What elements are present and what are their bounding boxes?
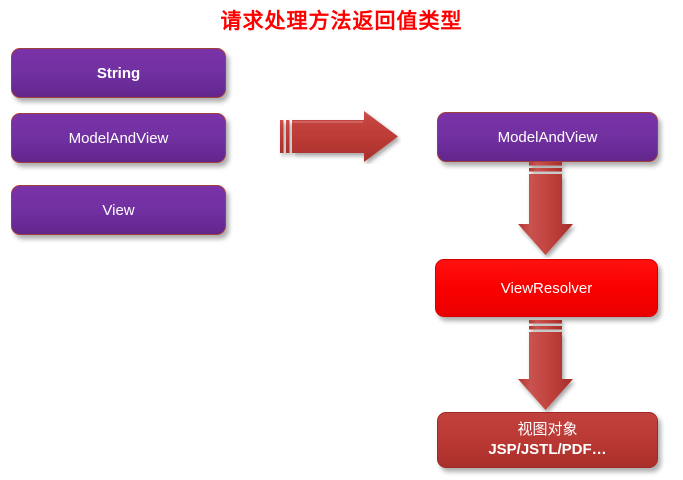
box-view[interactable]: View: [11, 185, 226, 235]
box-modelandview-left-label: ModelAndView: [69, 130, 169, 147]
box-view-object-line2: JSP/JSTL/PDF…: [488, 440, 606, 460]
box-view-label: View: [102, 202, 134, 219]
right-arrow-icon: [279, 110, 401, 164]
box-modelandview-right-label: ModelAndView: [498, 129, 598, 146]
down-arrow-icon-1: [516, 162, 578, 258]
box-modelandview-right[interactable]: ModelAndView: [437, 112, 658, 162]
page-title: 请求处理方法返回值类型: [0, 9, 683, 35]
box-viewresolver[interactable]: ViewResolver: [435, 259, 658, 317]
box-viewresolver-label: ViewResolver: [501, 280, 592, 297]
box-view-object[interactable]: 视图对象 JSP/JSTL/PDF…: [437, 412, 658, 468]
box-modelandview-left[interactable]: ModelAndView: [11, 113, 226, 163]
box-string-label: String: [97, 65, 140, 82]
box-string[interactable]: String: [11, 48, 226, 98]
box-view-object-line1: 视图对象: [517, 420, 577, 440]
down-arrow-icon-2: [516, 320, 578, 412]
diagram-canvas: 请求处理方法返回值类型 String ModelAndView View: [0, 0, 683, 480]
